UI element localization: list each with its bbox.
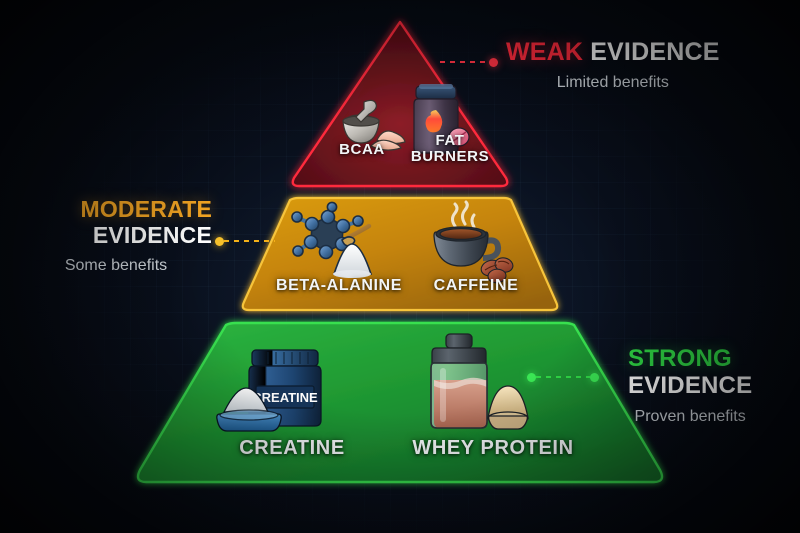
- coffee-cup-beans-icon: [422, 202, 514, 282]
- callout-subtitle-moderate: Some benefits: [20, 257, 212, 275]
- callout-weak-evidence[interactable]: WEAKEVIDENCE Limited benefits: [506, 40, 720, 92]
- connector-dot-weak: [489, 58, 498, 67]
- callout-evidence-moderate: EVIDENCE: [20, 224, 212, 247]
- connector-line-weak: [440, 61, 489, 63]
- infographic-canvas: BCAA FAT BURNERS WEAKEVIDENCE Limited be…: [0, 0, 800, 533]
- callout-evidence-weak: EVIDENCE: [590, 38, 719, 66]
- creatine-tub-scoop-icon: CREATINE: [216, 340, 338, 446]
- connector-dot-strong-inner: [527, 373, 536, 382]
- connector-strong: [527, 372, 599, 382]
- tier-weak-evidence[interactable]: BCAA FAT BURNERS: [288, 18, 512, 190]
- callout-evidence-strong: EVIDENCE: [628, 374, 752, 398]
- callout-subtitle-strong: Proven benefits: [628, 408, 752, 426]
- connector-dot-strong-outer: [590, 373, 599, 382]
- connector-dot-moderate: [215, 237, 224, 246]
- connector-weak: [440, 57, 498, 67]
- callout-strong-evidence[interactable]: STRONG EVIDENCE Proven benefits: [628, 347, 752, 426]
- strong-tier-shape: [132, 320, 668, 488]
- connector-line-moderate: [224, 240, 275, 242]
- shaker-bottle-protein-scoop-icon: [410, 332, 528, 448]
- mortar-pestle-powder-icon: [331, 96, 409, 158]
- callout-moderate-evidence[interactable]: MODERATE EVIDENCE Some benefits: [20, 198, 212, 275]
- molecule-powder-icon: [286, 208, 386, 280]
- connector-moderate: [215, 236, 275, 246]
- tier-moderate-evidence[interactable]: BETA-ALANINE CAFFEINE: [238, 196, 562, 314]
- callout-keyword-strong: STRONG: [628, 347, 752, 371]
- callout-keyword-moderate: MODERATE: [20, 198, 212, 221]
- fat-burner-jar-icon: [405, 80, 477, 160]
- callout-subtitle-weak: Limited benefits: [506, 74, 720, 92]
- tier-strong-evidence[interactable]: CREATINE: [132, 320, 668, 488]
- callout-keyword-weak: WEAK: [506, 38, 583, 66]
- connector-line-strong: [536, 376, 590, 378]
